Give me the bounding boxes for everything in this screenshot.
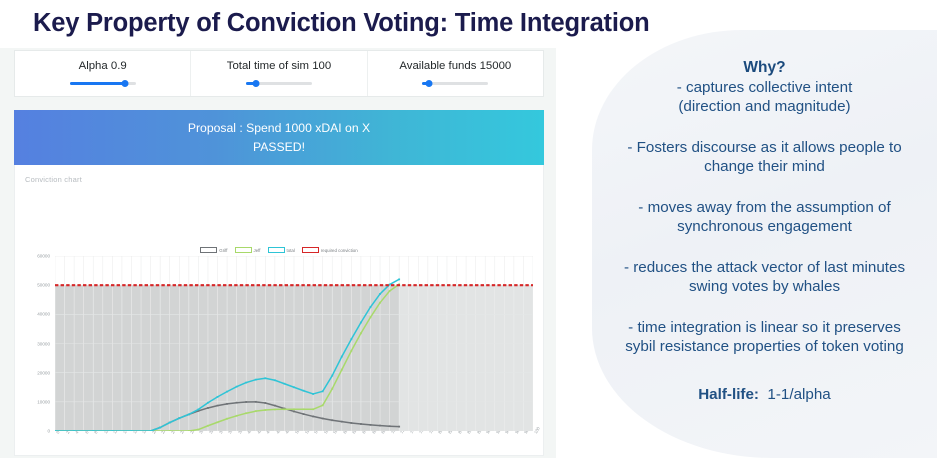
y-tick-label: 60000 [37, 254, 50, 259]
control-available-funds[interactable]: Available funds 15000 [368, 51, 543, 96]
legend-swatch [268, 247, 285, 253]
y-tick-label: 40000 [37, 312, 50, 317]
y-tick-label: 50000 [37, 283, 50, 288]
x-tick-label: 100 [533, 426, 541, 435]
why-heading: Why? [592, 58, 937, 78]
why-point-line: synchronous engagement [592, 217, 937, 237]
y-tick-label: 10000 [37, 399, 50, 404]
why-point: - Fosters discourse as it allows people … [592, 138, 937, 177]
proposal-headline: Proposal : Spend 1000 xDAI on X [188, 119, 370, 138]
chart-plot-area [55, 256, 533, 431]
why-point-line: - reduces the attack vector of last minu… [592, 258, 937, 278]
why-point-line: change their mind [592, 157, 937, 177]
available-funds-slider-thumb[interactable] [425, 80, 432, 87]
legend-item: total [268, 247, 295, 253]
conviction-chart-svg [55, 256, 533, 431]
legend-label: Jeff [254, 248, 261, 253]
why-point: - reduces the attack vector of last minu… [592, 258, 937, 297]
legend-label: required conviction [321, 248, 358, 253]
alpha-slider[interactable] [70, 79, 136, 88]
legend-item: required conviction [302, 247, 358, 253]
why-point: - moves away from the assumption ofsynch… [592, 198, 937, 237]
legend-item: Griff [200, 247, 227, 253]
total-time-slider-thumb[interactable] [252, 80, 259, 87]
y-tick-label: 30000 [37, 341, 50, 346]
total-time-slider[interactable] [246, 79, 312, 88]
available-funds-slider[interactable] [422, 79, 488, 88]
control-alpha[interactable]: Alpha 0.9 [15, 51, 191, 96]
legend-swatch [302, 247, 319, 253]
why-panel-content: Why?- captures collective intent(directi… [592, 30, 937, 404]
conviction-simulator-app: Alpha 0.9 Total time of sim 100 Availabl… [0, 48, 556, 458]
legend-label: total [287, 248, 295, 253]
chart-legend: GriffJefftotalrequired conviction [15, 247, 543, 253]
control-available-funds-label: Available funds 15000 [399, 59, 511, 73]
y-tick-label: 0 [47, 429, 50, 434]
why-point-line: - Fosters discourse as it allows people … [592, 138, 937, 158]
why-point: - time integration is linear so it prese… [592, 318, 937, 357]
chart-card-title: Conviction chart [25, 175, 82, 184]
half-life-label: Half-life: [698, 386, 759, 403]
conviction-chart-card: Conviction chart GriffJefftotalrequired … [14, 165, 544, 456]
why-point-line: sybil resistance properties of token vot… [592, 337, 937, 357]
chart-y-axis: 0100002000030000400005000060000 [15, 256, 53, 431]
alpha-slider-thumb[interactable] [122, 80, 129, 87]
why-point-line: - moves away from the assumption of [592, 198, 937, 218]
y-tick-label: 20000 [37, 370, 50, 375]
proposal-banner: Proposal : Spend 1000 xDAI on X PASSED! [14, 110, 544, 165]
legend-label: Griff [219, 248, 227, 253]
why-point-line: - captures collective intent [592, 78, 937, 98]
why-point-line: (direction and magnitude) [592, 97, 937, 117]
control-alpha-label: Alpha 0.9 [79, 59, 127, 73]
alpha-slider-fill [70, 82, 125, 85]
proposal-status-badge: PASSED! [253, 138, 305, 157]
half-life-value: 1-1/alpha [767, 386, 830, 403]
simulation-controls: Alpha 0.9 Total time of sim 100 Availabl… [14, 50, 544, 97]
control-total-time-label: Total time of sim 100 [227, 59, 331, 73]
half-life-row: Half-life: 1-1/alpha [592, 385, 937, 405]
chart-x-axis: 0246810121416182022242628303234363840424… [55, 432, 533, 452]
why-point-line: swing votes by whales [592, 277, 937, 297]
control-total-time-of-sim[interactable]: Total time of sim 100 [191, 51, 367, 96]
legend-item: Jeff [235, 247, 261, 253]
why-point-line: - time integration is linear so it prese… [592, 318, 937, 338]
legend-swatch [235, 247, 252, 253]
why-panel: Why?- captures collective intent(directi… [592, 30, 937, 458]
legend-swatch [200, 247, 217, 253]
